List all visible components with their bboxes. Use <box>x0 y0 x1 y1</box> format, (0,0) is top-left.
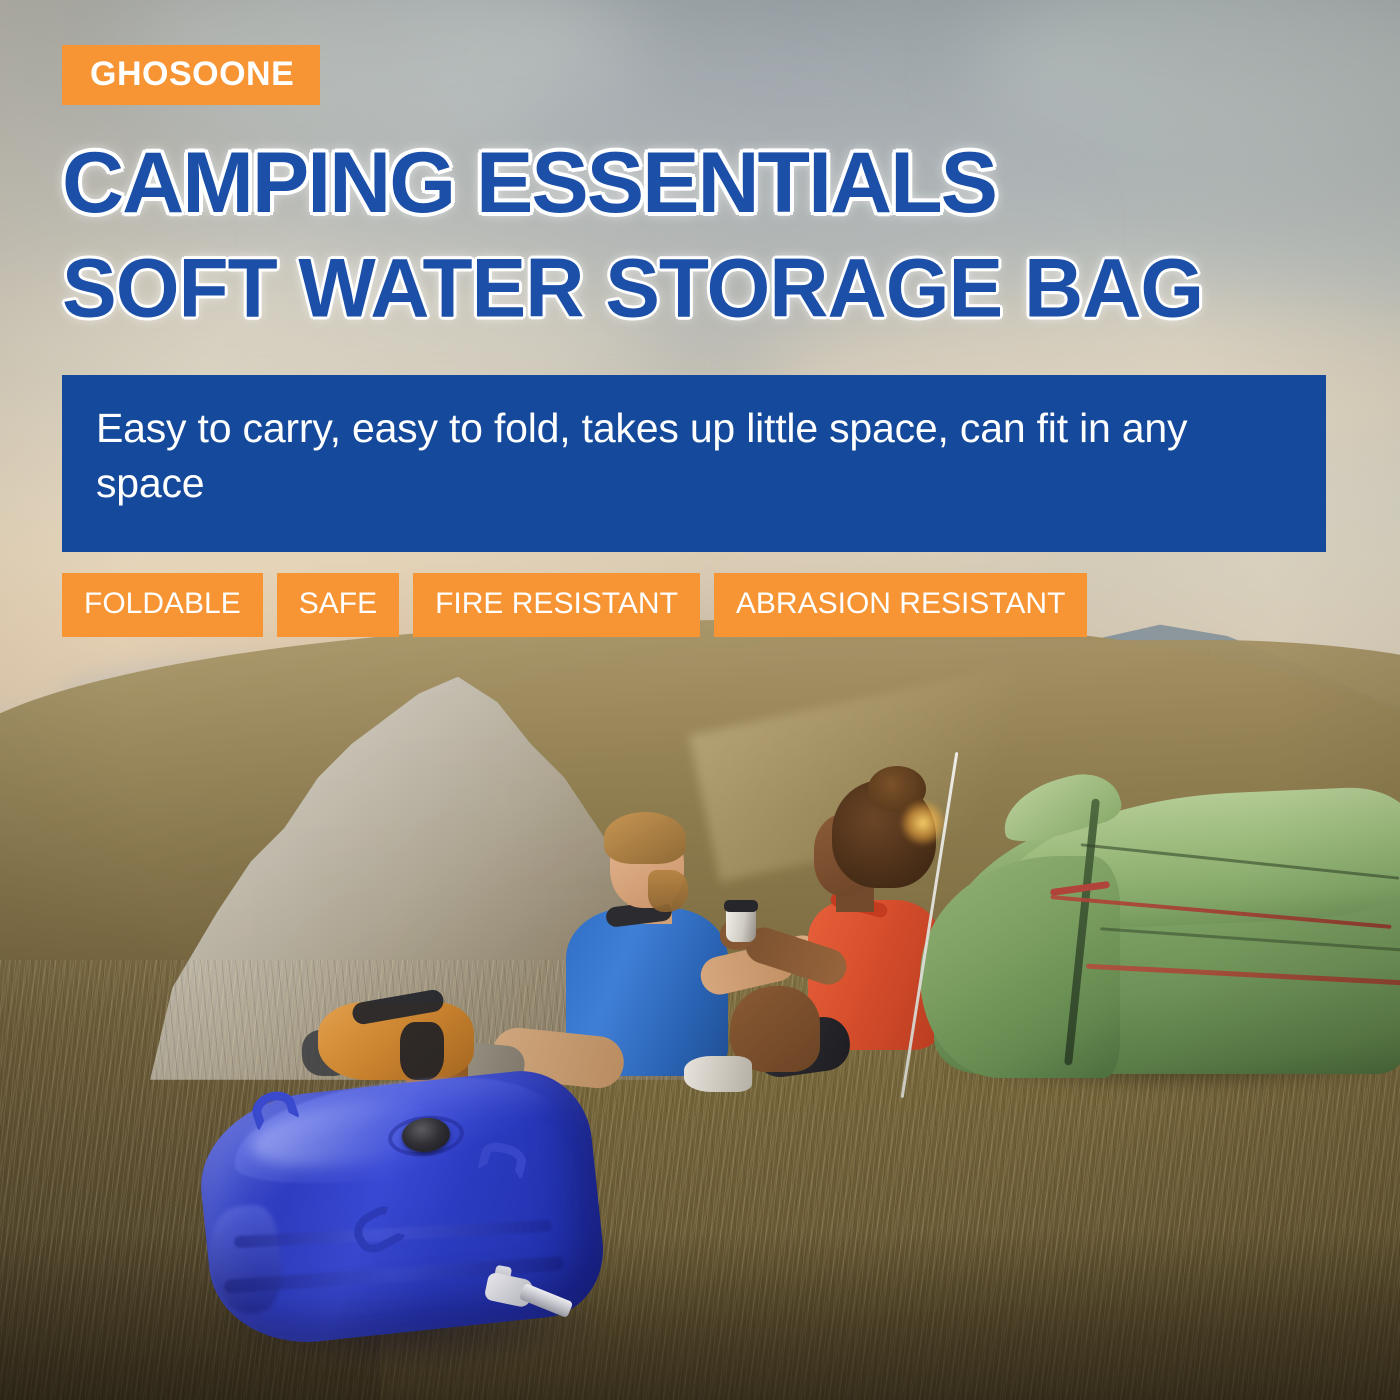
hiking-shoe <box>684 1056 752 1092</box>
feature-chip-fire-resistant: FIRE RESISTANT <box>413 573 700 637</box>
feature-chip-foldable: FOLDABLE <box>62 573 263 637</box>
hair <box>604 812 686 864</box>
green-tunnel-tent <box>900 760 1400 1100</box>
feature-chip-abrasion-resistant: ABRASION RESISTANT <box>714 573 1088 637</box>
brand-badge: GHOSOONE <box>62 45 320 105</box>
product-marketing-poster: GHOSOONE CAMPING ESSENTIALS SOFT WATER S… <box>0 0 1400 1400</box>
headline-line-2: SOFT WATER STORAGE BAG <box>62 247 1203 331</box>
orange-backpack <box>300 992 490 1088</box>
male-camper <box>510 800 740 1100</box>
backpack-strap <box>400 1022 444 1080</box>
description-panel: Easy to carry, easy to fold, takes up li… <box>62 375 1326 552</box>
headline-line-1: CAMPING ESSENTIALS <box>62 140 996 226</box>
beard <box>648 870 688 912</box>
water-storage-bag-product <box>198 1078 618 1378</box>
feature-chip-safe: SAFE <box>277 573 399 637</box>
cup-lid <box>724 900 758 912</box>
feature-chip-row: FOLDABLE SAFE FIRE RESISTANT ABRASION RE… <box>62 573 1087 637</box>
